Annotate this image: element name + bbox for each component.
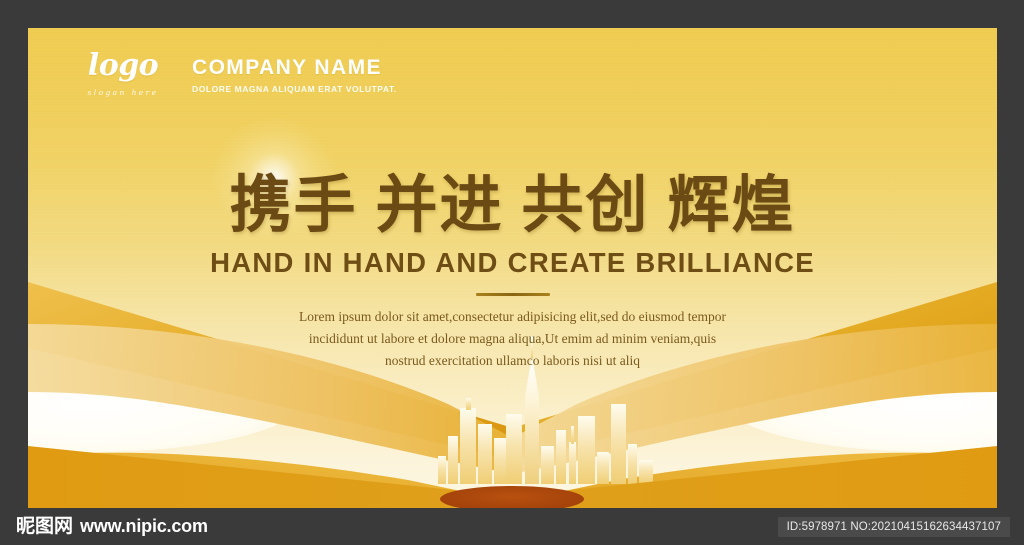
body-copy: Lorem ipsum dolor sit amet,consectetur a…	[28, 306, 997, 372]
cn-group-3: 共创	[522, 173, 650, 237]
body-line-1: Lorem ipsum dolor sit amet,consectetur a…	[28, 306, 997, 328]
headline-divider	[476, 293, 550, 296]
logo-slogan: slogan here	[74, 88, 172, 97]
site-url[interactable]: www.nipic.com	[80, 516, 208, 537]
company-name: COMPANY NAME	[192, 57, 397, 78]
english-subtitle: HAND IN HAND AND CREATE BRILLIANCE	[28, 247, 997, 279]
logo-wordmark: logo	[74, 51, 172, 81]
logo-block: logo slogan here	[74, 50, 172, 97]
cn-group-2: 并进	[375, 173, 503, 237]
screenshot-stage: logo slogan here COMPANY NAME DOLORE MAG…	[0, 0, 1024, 545]
poster-header: logo slogan here COMPANY NAME DOLORE MAG…	[74, 50, 397, 97]
company-tagline: DOLORE MAGNA ALIQUAM ERAT VOLUTPAT.	[192, 84, 397, 94]
frame-left	[0, 0, 28, 545]
vertex-shadow-ellipse	[440, 486, 584, 508]
company-block: COMPANY NAME DOLORE MAGNA ALIQUAM ERAT V…	[192, 50, 397, 94]
headline-block: 携手并进共创辉煌 HAND IN HAND AND CREATE BRILLIA…	[28, 173, 997, 296]
body-line-2: incididunt ut labore et dolore magna ali…	[28, 328, 997, 350]
body-line-3: nostrud exercitation ullamco laboris nis…	[28, 350, 997, 372]
chinese-title: 携手并进共创辉煌	[28, 173, 997, 237]
frame-right	[997, 0, 1024, 545]
cn-group-4: 辉煌	[668, 173, 796, 237]
poster-artboard: logo slogan here COMPANY NAME DOLORE MAG…	[28, 28, 997, 508]
asset-id-badge: ID:5978971 NO:20210415162634437107	[778, 517, 1010, 537]
site-name-cn: 昵图网	[16, 517, 73, 536]
cn-group-1: 携手	[229, 173, 357, 237]
frame-top	[0, 0, 1024, 28]
watermark-footer: 昵图网 www.nipic.com ID:5978971 NO:20210415…	[0, 508, 1024, 545]
